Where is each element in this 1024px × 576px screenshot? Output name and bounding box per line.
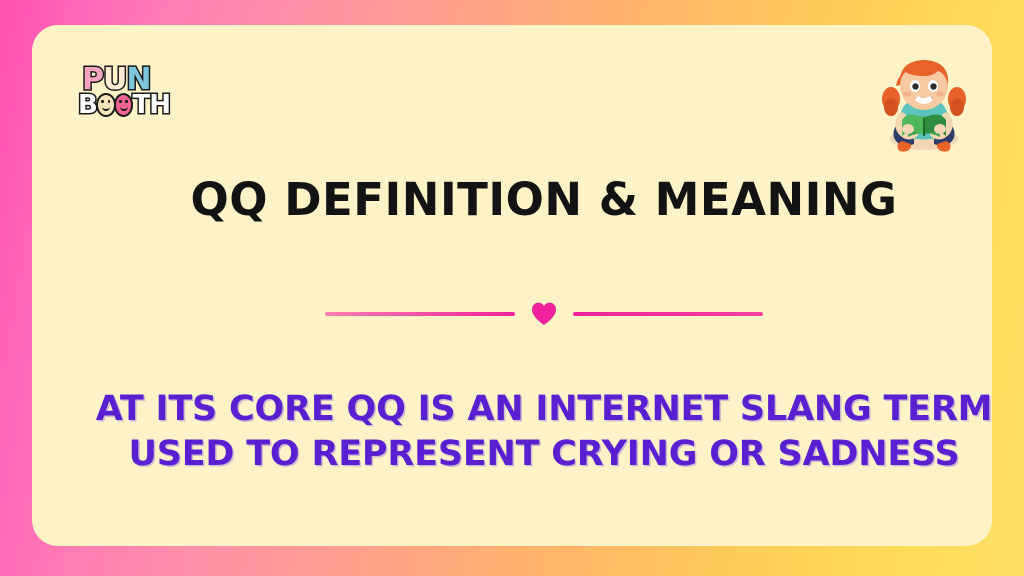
definition-line-1: AT ITS CORE QQ IS AN INTERNET SLANG TERM xyxy=(32,387,1024,432)
logo-word-booth: B T H xyxy=(78,92,170,118)
logo-letter-u: U xyxy=(103,65,126,95)
logo-letter-h: H xyxy=(149,92,170,118)
smiley-face-icon-1 xyxy=(96,93,116,117)
smiley-face-icon-2 xyxy=(114,93,134,117)
punbooth-logo[interactable]: P U N B T H xyxy=(78,65,170,137)
girl-reading-book-icon xyxy=(878,55,970,155)
logo-letter-b: B xyxy=(78,92,97,118)
definition-text: AT ITS CORE QQ IS AN INTERNET SLANG TERM… xyxy=(32,387,1024,477)
decorative-divider xyxy=(32,297,1024,331)
logo-letter-t: T xyxy=(132,92,149,118)
page-title: QQ DEFINITION & MEANING xyxy=(32,173,1024,226)
heart-icon xyxy=(531,302,557,326)
divider-line-left xyxy=(325,312,515,316)
divider-line-right xyxy=(573,312,763,316)
poster-canvas: P U N B T H xyxy=(0,0,1024,576)
content-card: P U N B T H xyxy=(32,25,992,546)
definition-line-2: USED TO REPRESENT CRYING OR SADNESS xyxy=(32,432,1024,477)
